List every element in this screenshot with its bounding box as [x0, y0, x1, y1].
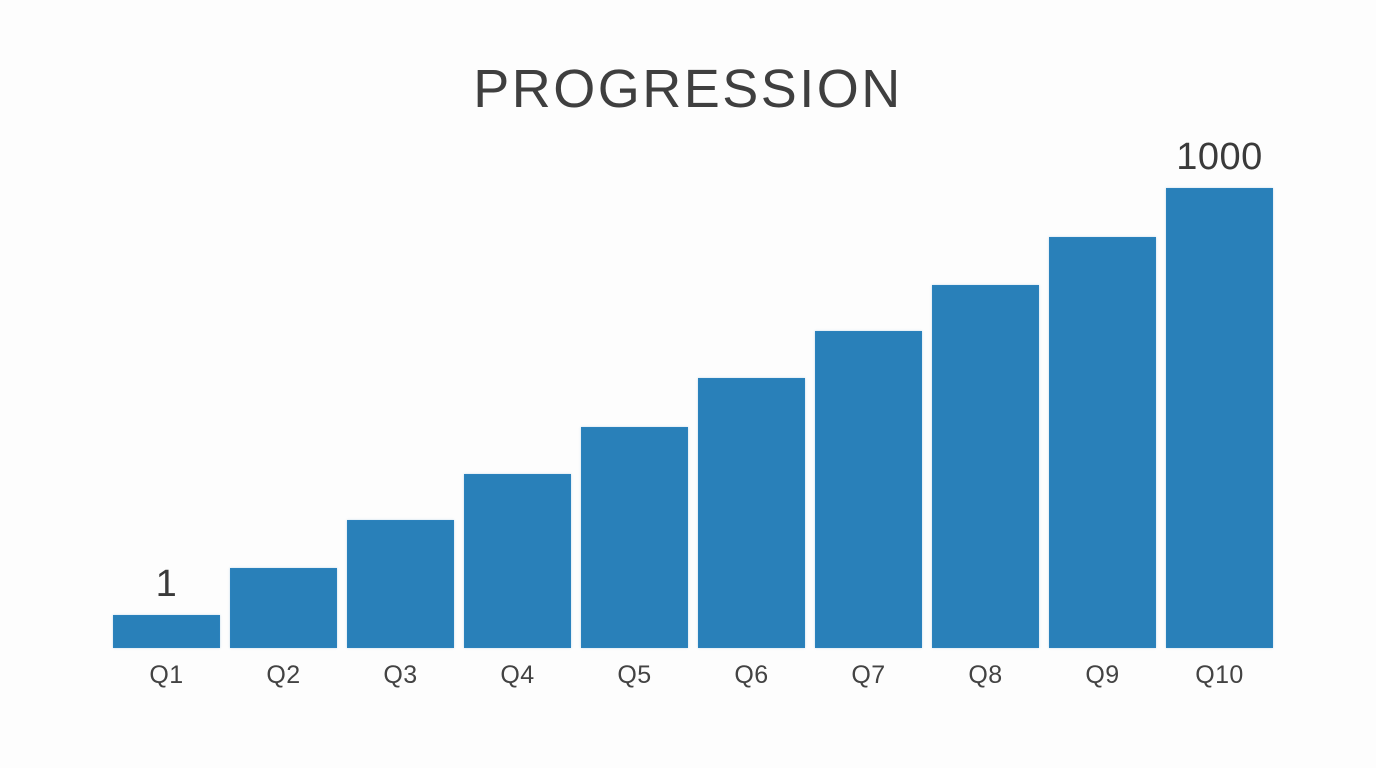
- bar-q4[interactable]: [464, 180, 571, 648]
- bar-rect[interactable]: [464, 474, 571, 648]
- bar-value-label-q1: 1: [113, 565, 220, 603]
- x-tick-label-q1: Q1: [113, 660, 220, 690]
- bar-q7[interactable]: [815, 180, 922, 648]
- x-tick-label-q9: Q9: [1049, 660, 1156, 690]
- x-tick-label-q6: Q6: [698, 660, 805, 690]
- x-tick-label-q2: Q2: [230, 660, 337, 690]
- bar-q5[interactable]: [581, 180, 688, 648]
- bar-rect[interactable]: [230, 568, 337, 648]
- chart-title: PROGRESSION: [0, 62, 1376, 116]
- bar-rect[interactable]: [1049, 237, 1156, 648]
- bar-q3[interactable]: [347, 180, 454, 648]
- x-tick-label-q3: Q3: [347, 660, 454, 690]
- bar-q6[interactable]: [698, 180, 805, 648]
- bar-rect[interactable]: [932, 285, 1039, 648]
- bar-rect[interactable]: [113, 615, 220, 648]
- bar-rect[interactable]: [698, 378, 805, 648]
- bar-value-label-q10: 1000: [1166, 138, 1273, 176]
- bar-rect[interactable]: [347, 520, 454, 648]
- bar-q8[interactable]: [932, 180, 1039, 648]
- bar-rect[interactable]: [815, 331, 922, 648]
- plot-area: 11000: [113, 180, 1264, 648]
- x-tick-label-q8: Q8: [932, 660, 1039, 690]
- bar-rect[interactable]: [1166, 188, 1273, 648]
- x-tick-label-q5: Q5: [581, 660, 688, 690]
- x-tick-label-q4: Q4: [464, 660, 571, 690]
- bar-rect[interactable]: [581, 427, 688, 648]
- bar-q9[interactable]: [1049, 180, 1156, 648]
- x-axis: Q1Q2Q3Q4Q5Q6Q7Q8Q9Q10: [113, 660, 1264, 700]
- bar-q10[interactable]: 1000: [1166, 180, 1273, 648]
- bar-q2[interactable]: [230, 180, 337, 648]
- x-tick-label-q10: Q10: [1166, 660, 1273, 690]
- x-tick-label-q7: Q7: [815, 660, 922, 690]
- bar-q1[interactable]: 1: [113, 180, 220, 648]
- bar-chart-figure: PROGRESSION 11000 Q1Q2Q3Q4Q5Q6Q7Q8Q9Q10: [0, 0, 1376, 768]
